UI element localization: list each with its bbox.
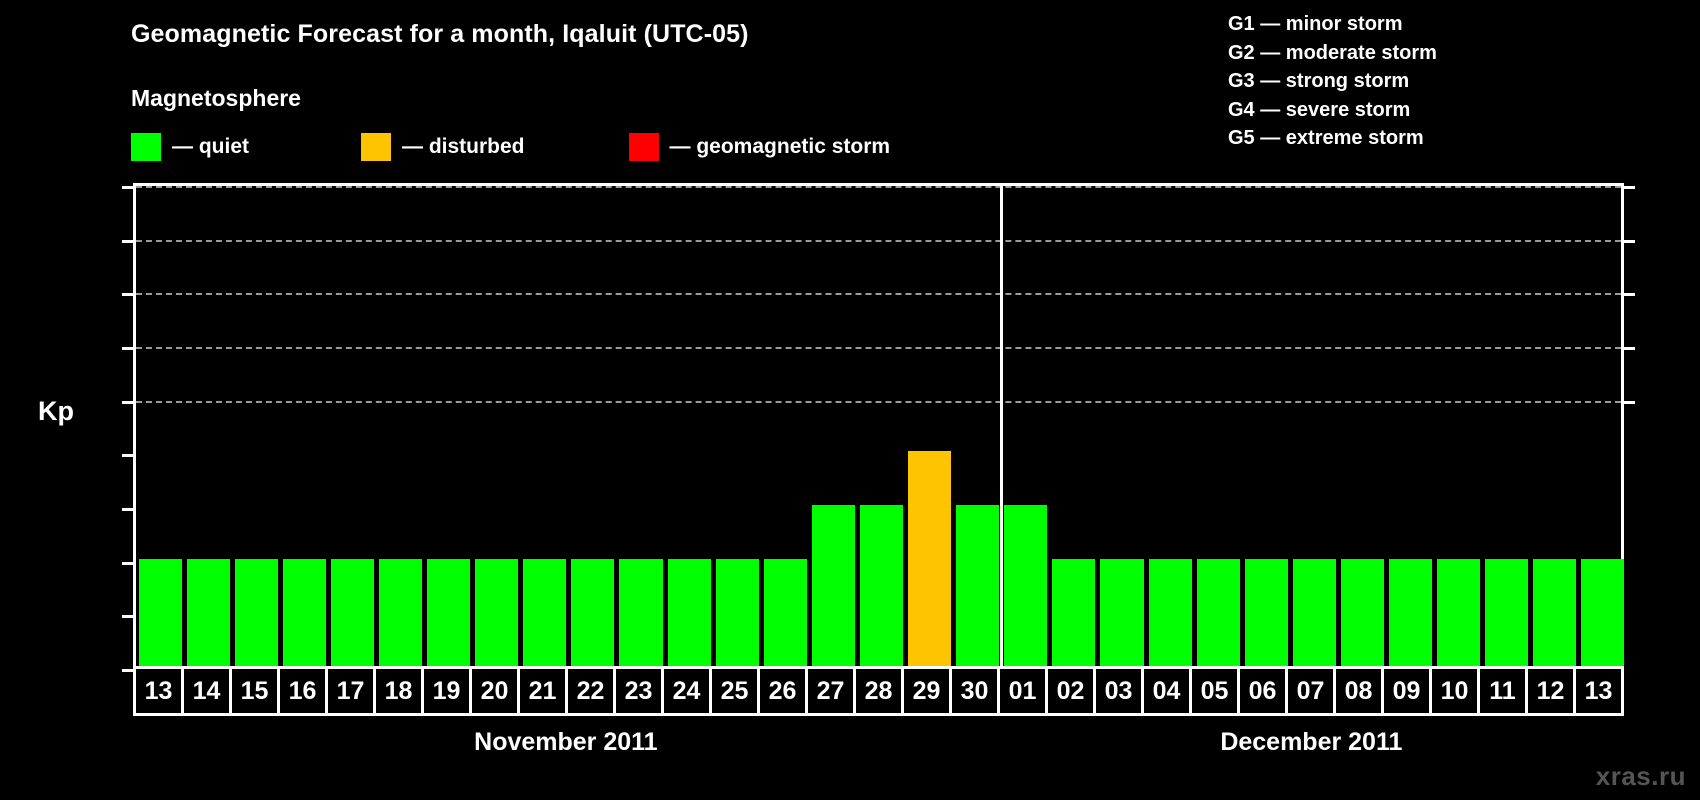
bar-01[interactable] — [1004, 505, 1047, 666]
date-cell-19[interactable]: 02 — [1048, 669, 1096, 713]
legend: — quiet — disturbed — geomagnetic storm — [131, 132, 890, 162]
legend-label-geomagnetic-storm: — geomagnetic storm — [670, 135, 891, 159]
date-cell-30[interactable]: 13 — [1576, 669, 1621, 713]
gscale-row-1: G1 — minor storm — [1228, 10, 1437, 39]
y-axis-label: Kp — [38, 396, 74, 427]
month-divider — [1000, 186, 1003, 666]
bar-19[interactable] — [427, 559, 470, 666]
bar-23[interactable] — [619, 559, 662, 666]
bar-21[interactable] — [523, 559, 566, 666]
y-tick-2 — [122, 562, 136, 565]
bar-06[interactable] — [1245, 559, 1288, 666]
date-cell-10[interactable]: 23 — [616, 669, 664, 713]
bar-25[interactable] — [716, 559, 759, 666]
bars — [136, 186, 1621, 666]
bar-09[interactable] — [1389, 559, 1432, 666]
month-caption-november: November 2011 — [133, 728, 999, 757]
date-cell-16[interactable]: 29 — [904, 669, 952, 713]
legend-label-quiet: — quiet — [172, 135, 249, 159]
bar-13[interactable] — [139, 559, 182, 666]
bar-16[interactable] — [283, 559, 326, 666]
y-tick-8 — [122, 240, 136, 243]
month-caption-december: December 2011 — [999, 728, 1624, 757]
bar-11[interactable] — [1485, 559, 1528, 666]
bar-20[interactable] — [475, 559, 518, 666]
date-cell-17[interactable]: 30 — [952, 669, 1000, 713]
date-cell-29[interactable]: 12 — [1528, 669, 1576, 713]
page-title: Geomagnetic Forecast for a month, Iqalui… — [131, 20, 749, 49]
bar-14[interactable] — [187, 559, 230, 666]
bar-26[interactable] — [764, 559, 807, 666]
date-cell-8[interactable]: 21 — [520, 669, 568, 713]
bar-13[interactable] — [1581, 559, 1624, 666]
legend-item-geomagnetic-storm: — geomagnetic storm — [629, 133, 891, 161]
date-cell-2[interactable]: 15 — [232, 669, 280, 713]
date-cell-23[interactable]: 06 — [1240, 669, 1288, 713]
bar-22[interactable] — [571, 559, 614, 666]
date-cell-12[interactable]: 25 — [712, 669, 760, 713]
y-tick-9 — [122, 186, 136, 189]
bar-03[interactable] — [1100, 559, 1143, 666]
g-tick-G5 — [1621, 186, 1635, 189]
g-tick-G1 — [1621, 401, 1635, 404]
watermark: xras.ru — [1596, 761, 1686, 792]
date-cell-22[interactable]: 05 — [1192, 669, 1240, 713]
g-tick-G4 — [1621, 240, 1635, 243]
bar-18[interactable] — [379, 559, 422, 666]
date-cell-26[interactable]: 09 — [1384, 669, 1432, 713]
legend-label-disturbed: — disturbed — [402, 135, 525, 159]
bar-29[interactable] — [908, 451, 951, 666]
date-cell-25[interactable]: 08 — [1336, 669, 1384, 713]
bar-07[interactable] — [1293, 559, 1336, 666]
bar-28[interactable] — [860, 505, 903, 666]
y-tick-7 — [122, 293, 136, 296]
legend-item-quiet: — quiet — [131, 133, 249, 161]
date-cell-6[interactable]: 19 — [424, 669, 472, 713]
date-cell-14[interactable]: 27 — [808, 669, 856, 713]
date-cell-9[interactable]: 22 — [568, 669, 616, 713]
legend-swatch-disturbed-icon — [361, 133, 391, 161]
bar-08[interactable] — [1341, 559, 1384, 666]
date-cell-15[interactable]: 28 — [856, 669, 904, 713]
bar-04[interactable] — [1149, 559, 1192, 666]
y-tick-3 — [122, 508, 136, 511]
bar-27[interactable] — [812, 505, 855, 666]
gscale-legend: G1 — minor stormG2 — moderate stormG3 — … — [1228, 10, 1437, 153]
y-tick-5 — [122, 401, 136, 404]
date-cell-18[interactable]: 01 — [1000, 669, 1048, 713]
date-cell-27[interactable]: 10 — [1432, 669, 1480, 713]
date-cell-13[interactable]: 26 — [760, 669, 808, 713]
date-cell-4[interactable]: 17 — [328, 669, 376, 713]
date-cell-20[interactable]: 03 — [1096, 669, 1144, 713]
legend-swatch-quiet-icon — [131, 133, 161, 161]
bar-24[interactable] — [668, 559, 711, 666]
bar-17[interactable] — [331, 559, 374, 666]
legend-heading: Magnetosphere — [131, 85, 301, 112]
bar-02[interactable] — [1052, 559, 1095, 666]
y-tick-6 — [122, 347, 136, 350]
bar-15[interactable] — [235, 559, 278, 666]
legend-item-disturbed: — disturbed — [361, 133, 525, 161]
gscale-row-4: G4 — severe storm — [1228, 96, 1437, 125]
bar-30[interactable] — [956, 505, 999, 666]
plot-inner: 0123456789 G1G2G3G4G5 — [136, 186, 1621, 666]
date-cell-11[interactable]: 24 — [664, 669, 712, 713]
date-cell-0[interactable]: 13 — [136, 669, 184, 713]
gscale-row-5: G5 — extreme storm — [1228, 124, 1437, 153]
date-cell-5[interactable]: 18 — [376, 669, 424, 713]
legend-swatch-storm-icon — [629, 133, 659, 161]
gscale-row-3: G3 — strong storm — [1228, 67, 1437, 96]
y-tick-1 — [122, 615, 136, 618]
bar-10[interactable] — [1437, 559, 1480, 666]
y-tick-4 — [122, 454, 136, 457]
date-cell-28[interactable]: 11 — [1480, 669, 1528, 713]
g-tick-G2 — [1621, 347, 1635, 350]
date-cell-24[interactable]: 07 — [1288, 669, 1336, 713]
date-axis: 1314151617181920212223242526272829300102… — [133, 666, 1624, 716]
g-tick-G3 — [1621, 293, 1635, 296]
bar-12[interactable] — [1533, 559, 1576, 666]
gscale-row-2: G2 — moderate storm — [1228, 39, 1437, 68]
date-cell-21[interactable]: 04 — [1144, 669, 1192, 713]
bar-05[interactable] — [1197, 559, 1240, 666]
date-cell-3[interactable]: 16 — [280, 669, 328, 713]
date-cell-1[interactable]: 14 — [184, 669, 232, 713]
date-cell-7[interactable]: 20 — [472, 669, 520, 713]
plot-area: 0123456789 G1G2G3G4G5 — [133, 183, 1624, 666]
